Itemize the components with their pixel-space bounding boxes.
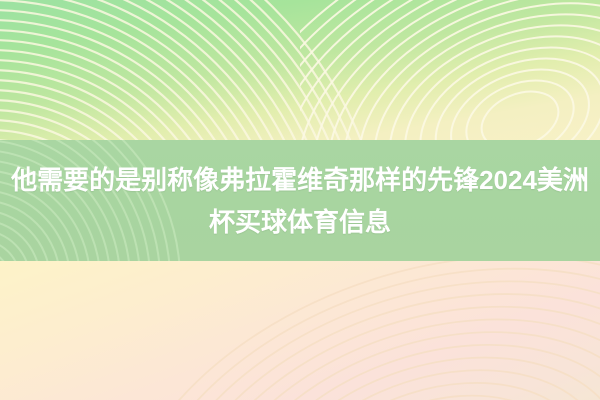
promo-banner: 他需要的是别称像弗拉霍维奇那样的先锋2024美洲杯买球体育信息 (0, 0, 600, 400)
page-title: 他需要的是别称像弗拉霍维奇那样的先锋2024美洲杯买球体育信息 (8, 159, 592, 243)
arc-swirl-top-left-icon (0, 0, 370, 140)
arc-swirl-bottom-right-icon (110, 261, 600, 400)
top-gradient-band (0, 0, 600, 140)
arc-swirl-bottom-left-icon (0, 261, 440, 400)
bottom-cream-band (0, 261, 600, 400)
arc-swirl-top-right-icon (300, 0, 600, 140)
headline-container: 他需要的是别称像弗拉霍维奇那样的先锋2024美洲杯买球体育信息 (0, 140, 600, 261)
